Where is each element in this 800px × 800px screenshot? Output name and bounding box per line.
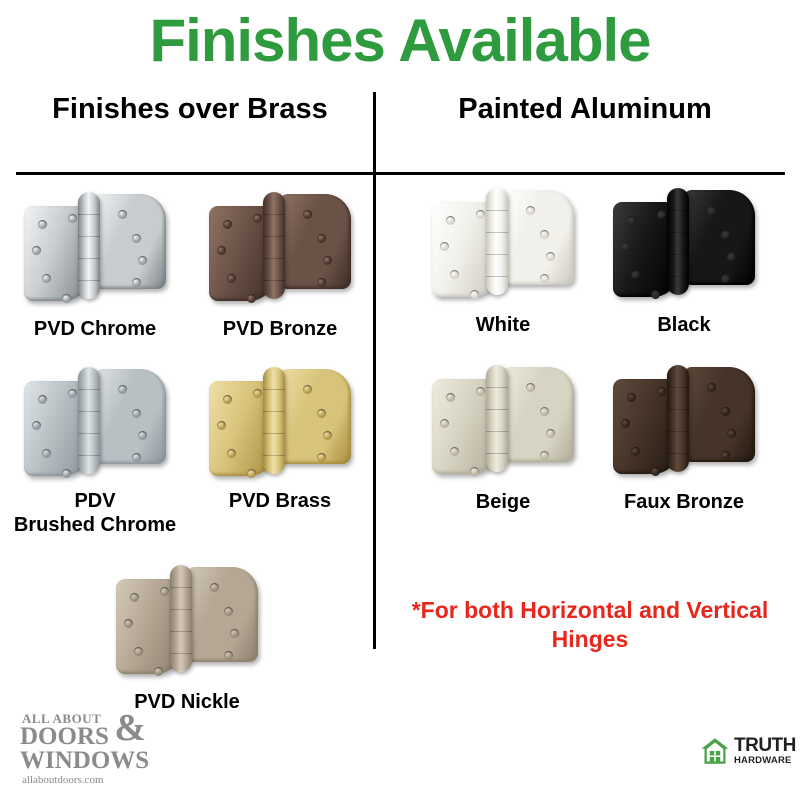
screw-hole — [132, 453, 141, 462]
screw-hole — [227, 449, 236, 458]
finish-label: PVD Chrome — [0, 318, 190, 342]
barrel-seam — [667, 232, 689, 233]
screw-hole — [707, 383, 716, 392]
screw-hole — [138, 256, 147, 265]
barrel-seam — [486, 210, 508, 211]
finish-label: Black — [589, 314, 779, 338]
hinge-image-faux-bronze — [609, 363, 759, 478]
finishes-available-poster: Finishes Available Finishes over Brass P… — [0, 0, 800, 800]
barrel-seam — [78, 411, 100, 412]
horizontal-divider — [16, 172, 785, 175]
hinge-barrel — [263, 367, 285, 474]
screw-hole — [317, 453, 326, 462]
screw-hole — [224, 651, 233, 660]
hinge-leaf-right — [279, 369, 351, 464]
finish-label: Faux Bronze — [589, 491, 779, 515]
screw-hole — [42, 449, 51, 458]
barrel-seam — [486, 276, 508, 277]
finish-card-pvd-chrome[interactable]: PVD Chrome — [0, 190, 190, 360]
hinge-leaf-right — [502, 190, 574, 285]
hinge-leaf-right — [186, 567, 258, 662]
finish-card-white[interactable]: White — [408, 186, 598, 356]
hinge-image-pvd-brass — [205, 365, 355, 480]
screw-hole — [546, 252, 555, 261]
screw-hole — [62, 469, 71, 478]
screw-hole — [450, 270, 459, 279]
screw-hole — [440, 242, 449, 251]
barrel-seam — [263, 280, 285, 281]
screw-hole — [38, 395, 47, 404]
screw-hole — [657, 387, 666, 396]
hinge-leaf-right — [94, 369, 166, 464]
barrel-seam — [667, 431, 689, 432]
column-heading-aluminum: Painted Aluminum — [382, 92, 788, 126]
hinge-image-black — [609, 186, 759, 301]
screw-hole — [540, 407, 549, 416]
screw-hole — [627, 216, 636, 225]
ampersand-glyph: & — [114, 712, 146, 744]
barrel-seam — [170, 653, 192, 654]
screw-hole — [124, 619, 133, 628]
barrel-seam — [78, 389, 100, 390]
screw-hole — [224, 607, 233, 616]
screw-hole — [470, 290, 479, 299]
truth-hardware-logo[interactable]: TRUTH HARDWARE — [700, 729, 788, 773]
hinge-image-pvd-chrome — [20, 190, 170, 305]
barrel-seam — [263, 433, 285, 434]
screw-hole — [230, 629, 239, 638]
truth-wordmark: TRUTH — [734, 736, 796, 755]
finish-label: Beige — [408, 491, 598, 515]
screw-hole — [227, 274, 236, 283]
screw-hole — [68, 389, 77, 398]
hinge-leaf-right — [279, 194, 351, 289]
screw-hole — [217, 246, 226, 255]
barrel-seam — [486, 254, 508, 255]
screw-hole — [621, 242, 630, 251]
screw-hole — [446, 393, 455, 402]
screw-hole — [526, 206, 535, 215]
screw-hole — [721, 451, 730, 460]
screw-hole — [540, 230, 549, 239]
screw-hole — [32, 421, 41, 430]
hinge-image-pvd-nickle — [112, 563, 262, 678]
barrel-seam — [486, 232, 508, 233]
barrel-seam — [667, 409, 689, 410]
screw-hole — [450, 447, 459, 456]
barrel-seam — [486, 409, 508, 410]
screw-hole — [217, 421, 226, 430]
hinge-image-pdv-brushed-chrome — [20, 365, 170, 480]
screw-hole — [247, 469, 256, 478]
barrel-seam — [78, 236, 100, 237]
hinge-image-pvd-bronze — [205, 190, 355, 305]
screw-hole — [323, 256, 332, 265]
screw-hole — [651, 467, 660, 476]
screw-hole — [721, 407, 730, 416]
hinge-barrel — [170, 565, 192, 672]
screw-hole — [138, 431, 147, 440]
finish-card-beige[interactable]: Beige — [408, 363, 598, 533]
barrel-seam — [667, 254, 689, 255]
screw-hole — [721, 274, 730, 283]
screw-hole — [253, 214, 262, 223]
barrel-seam — [263, 455, 285, 456]
hinge-barrel — [486, 188, 508, 295]
barrel-seam — [486, 431, 508, 432]
hinge-barrel — [667, 188, 689, 295]
screw-hole — [38, 220, 47, 229]
hinge-barrel — [263, 192, 285, 299]
barrel-seam — [263, 389, 285, 390]
screw-hole — [317, 409, 326, 418]
barrel-seam — [78, 433, 100, 434]
hinge-leaf-right — [502, 367, 574, 462]
finish-label: PVD Bronze — [185, 318, 375, 342]
screw-hole — [651, 290, 660, 299]
barrel-seam — [170, 587, 192, 588]
screw-hole — [657, 210, 666, 219]
screw-hole — [317, 234, 326, 243]
screw-hole — [247, 294, 256, 303]
screw-hole — [476, 387, 485, 396]
barrel-seam — [263, 236, 285, 237]
screw-hole — [631, 270, 640, 279]
screw-hole — [134, 647, 143, 656]
screw-hole — [154, 667, 163, 676]
hinge-image-beige — [428, 363, 578, 478]
screw-hole — [303, 210, 312, 219]
barrel-seam — [78, 214, 100, 215]
finish-card-faux-bronze[interactable]: Faux Bronze — [589, 363, 779, 533]
barrel-seam — [78, 280, 100, 281]
hinge-leaf-right — [94, 194, 166, 289]
screw-hole — [546, 429, 555, 438]
screw-hole — [727, 252, 736, 261]
screw-hole — [118, 210, 127, 219]
screw-hole — [62, 294, 71, 303]
hinge-barrel — [78, 367, 100, 474]
screw-hole — [160, 587, 169, 596]
barrel-seam — [263, 258, 285, 259]
barrel-seam — [263, 411, 285, 412]
page-title: Finishes Available — [0, 6, 800, 75]
house-icon — [700, 736, 730, 766]
barrel-seam — [667, 210, 689, 211]
finish-label: White — [408, 314, 598, 338]
finish-card-black[interactable]: Black — [589, 186, 779, 356]
screw-hole — [476, 210, 485, 219]
screw-hole — [323, 431, 332, 440]
screw-hole — [446, 216, 455, 225]
screw-hole — [540, 451, 549, 460]
screw-hole — [132, 278, 141, 287]
screw-hole — [721, 230, 730, 239]
screw-hole — [303, 385, 312, 394]
column-heading-brass: Finishes over Brass — [12, 92, 368, 126]
screw-hole — [210, 583, 219, 592]
screw-hole — [627, 393, 636, 402]
hinge-image-white — [428, 186, 578, 301]
screw-hole — [130, 593, 139, 602]
screw-hole — [118, 385, 127, 394]
barrel-seam — [667, 387, 689, 388]
hinge-orientation-note: *For both Horizontal and Vertical Hinges — [390, 596, 790, 654]
screw-hole — [727, 429, 736, 438]
screw-hole — [526, 383, 535, 392]
screw-hole — [621, 419, 630, 428]
screw-hole — [540, 274, 549, 283]
screw-hole — [68, 214, 77, 223]
barrel-seam — [170, 609, 192, 610]
screw-hole — [223, 395, 232, 404]
barrel-seam — [667, 453, 689, 454]
logo-website-url: allaboutdoors.com — [20, 772, 150, 789]
screw-hole — [223, 220, 232, 229]
barrel-seam — [263, 214, 285, 215]
barrel-seam — [486, 387, 508, 388]
finish-label: PVD Brass — [185, 490, 375, 514]
all-about-doors-logo[interactable]: ALL ABOUT DOORS WINDOWS & allaboutdoors.… — [20, 712, 150, 789]
barrel-seam — [667, 276, 689, 277]
finish-label: PDV Brushed Chrome — [0, 490, 190, 537]
finish-card-pvd-bronze[interactable]: PVD Bronze — [185, 190, 375, 360]
barrel-seam — [486, 453, 508, 454]
screw-hole — [132, 234, 141, 243]
hinge-leaf-right — [683, 190, 755, 285]
screw-hole — [253, 389, 262, 398]
barrel-seam — [170, 631, 192, 632]
screw-hole — [470, 467, 479, 476]
screw-hole — [317, 278, 326, 287]
screw-hole — [42, 274, 51, 283]
hardware-wordmark: HARDWARE — [734, 756, 796, 766]
screw-hole — [32, 246, 41, 255]
barrel-seam — [78, 455, 100, 456]
finish-card-pdv-brushed-chrome[interactable]: PDV Brushed Chrome — [0, 365, 190, 555]
logo-line-windows: WINDOWS — [20, 749, 150, 773]
hinge-leaf-right — [683, 367, 755, 462]
screw-hole — [707, 206, 716, 215]
screw-hole — [132, 409, 141, 418]
hinge-barrel — [486, 365, 508, 472]
finish-card-pvd-brass[interactable]: PVD Brass — [185, 365, 375, 555]
hinge-barrel — [667, 365, 689, 472]
screw-hole — [440, 419, 449, 428]
screw-hole — [631, 447, 640, 456]
barrel-seam — [78, 258, 100, 259]
hinge-barrel — [78, 192, 100, 299]
